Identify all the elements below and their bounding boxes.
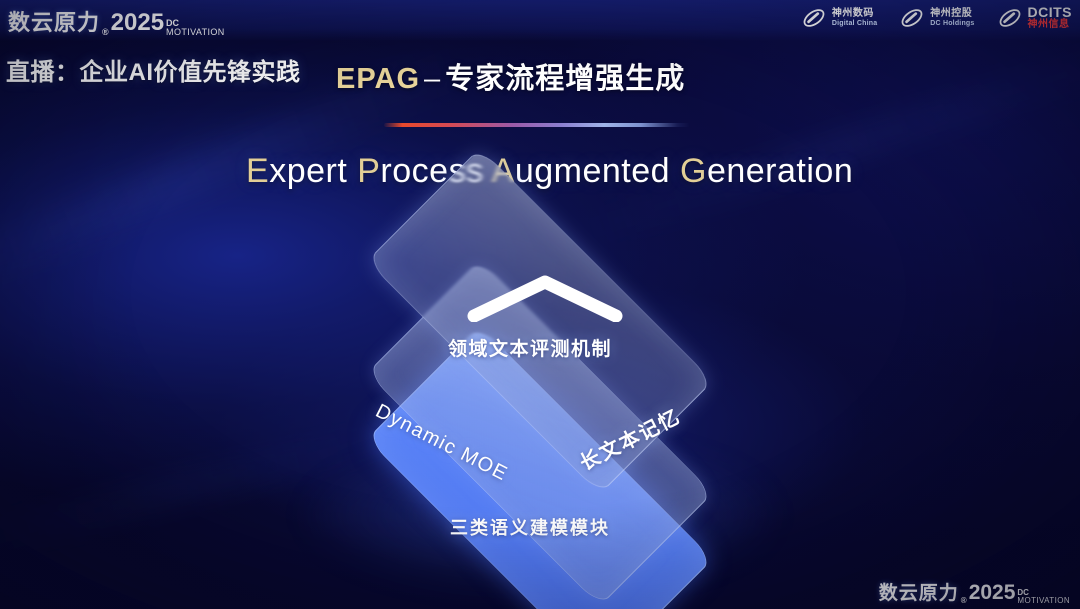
brand-name-cn: 数云原力 <box>879 578 959 605</box>
slide-canvas: 数云原力 ® 2025 DC MOTIVATION 神州数码 Digital C… <box>0 0 1080 609</box>
brand-logo-bottom-right: 数云原力 ® 2025 DC MOTIVATION <box>879 578 1070 605</box>
brand-motivation-text: MOTIVATION <box>1017 597 1070 605</box>
subtitle-word: rocess <box>380 152 491 190</box>
page-title: EPAG–专家流程增强生成 <box>336 55 685 97</box>
partner-name-en: DC Holdings <box>930 20 974 27</box>
brand-motivation-text: MOTIVATION <box>166 28 225 37</box>
partner-name-en: Digital China <box>832 20 877 27</box>
chevron-up-icon <box>466 274 624 322</box>
title-acronym: EPAG <box>336 63 420 95</box>
subtitle-expansion: Expert Process Augmented Generation <box>246 152 853 191</box>
subtitle-word: xpert <box>269 152 357 190</box>
partner-label: 神州数码 Digital China <box>832 9 877 27</box>
title-divider <box>384 123 690 127</box>
live-stream-title: 直播：企业AI价值先锋实践 <box>6 52 301 87</box>
brand-year: 2025 <box>111 9 164 37</box>
partner-name-cn: 神州控股 <box>930 9 974 20</box>
partner-label: 神州控股 DC Holdings <box>930 9 974 27</box>
subtitle-initial: A <box>492 152 515 190</box>
stack-layer-bottom <box>367 326 714 609</box>
brand-dc-motivation: DC MOTIVATION <box>166 19 225 37</box>
registered-mark: ® <box>102 27 109 37</box>
title-dash: – <box>420 63 445 95</box>
subtitle-initial: E <box>246 152 269 190</box>
dcits-swirl-icon <box>997 5 1023 31</box>
partner-logo-digital-china: 神州数码 Digital China <box>801 5 877 31</box>
partner-logo-group: 神州数码 Digital China 神州控股 DC Holdings DCIT… <box>801 5 1072 31</box>
partner-name-cn: 神州信息 <box>1028 20 1073 31</box>
stack-layer-bottom-label: 三类语义建模模块 <box>450 514 610 540</box>
partner-name-en: DCITS <box>1028 5 1073 20</box>
stack-layer-middle <box>367 260 714 607</box>
partner-logo-dc-holdings: 神州控股 DC Holdings <box>899 5 974 31</box>
title-chinese: 专家流程增强生成 <box>445 63 685 95</box>
digital-china-swirl-icon <box>801 5 827 31</box>
subtitle-word: eneration <box>707 152 853 190</box>
partner-label: DCITS 神州信息 <box>1028 5 1073 30</box>
stack-layer-top-label: 领域文本评测机制 <box>448 334 612 361</box>
stack-layer-middle-label-right: 长文本记忆 <box>574 400 685 476</box>
dc-holdings-swirl-icon <box>899 5 925 31</box>
stack-layer-middle-label-left: Dynamic MOE <box>372 400 512 487</box>
stack-layer-top <box>367 148 714 495</box>
subtitle-word: ugmented <box>515 152 680 190</box>
subtitle-initial: P <box>357 152 380 190</box>
background-light-streak <box>0 415 417 559</box>
brand-name-cn: 数云原力 <box>8 5 100 37</box>
brand-year: 2025 <box>969 581 1016 605</box>
stack-layer-top-surface <box>367 148 714 495</box>
stack-layer-bottom-surface <box>367 326 714 609</box>
registered-mark: ® <box>961 596 967 605</box>
stack-glow <box>305 440 775 590</box>
subtitle-initial: G <box>680 152 707 190</box>
stack-layer-middle-surface <box>367 260 714 607</box>
partner-logo-dcits: DCITS 神州信息 <box>997 5 1073 31</box>
partner-name-cn: 神州数码 <box>832 9 877 20</box>
brand-dc-motivation: DC MOTIVATION <box>1017 589 1070 605</box>
brand-logo-top-left: 数云原力 ® 2025 DC MOTIVATION <box>8 5 225 37</box>
